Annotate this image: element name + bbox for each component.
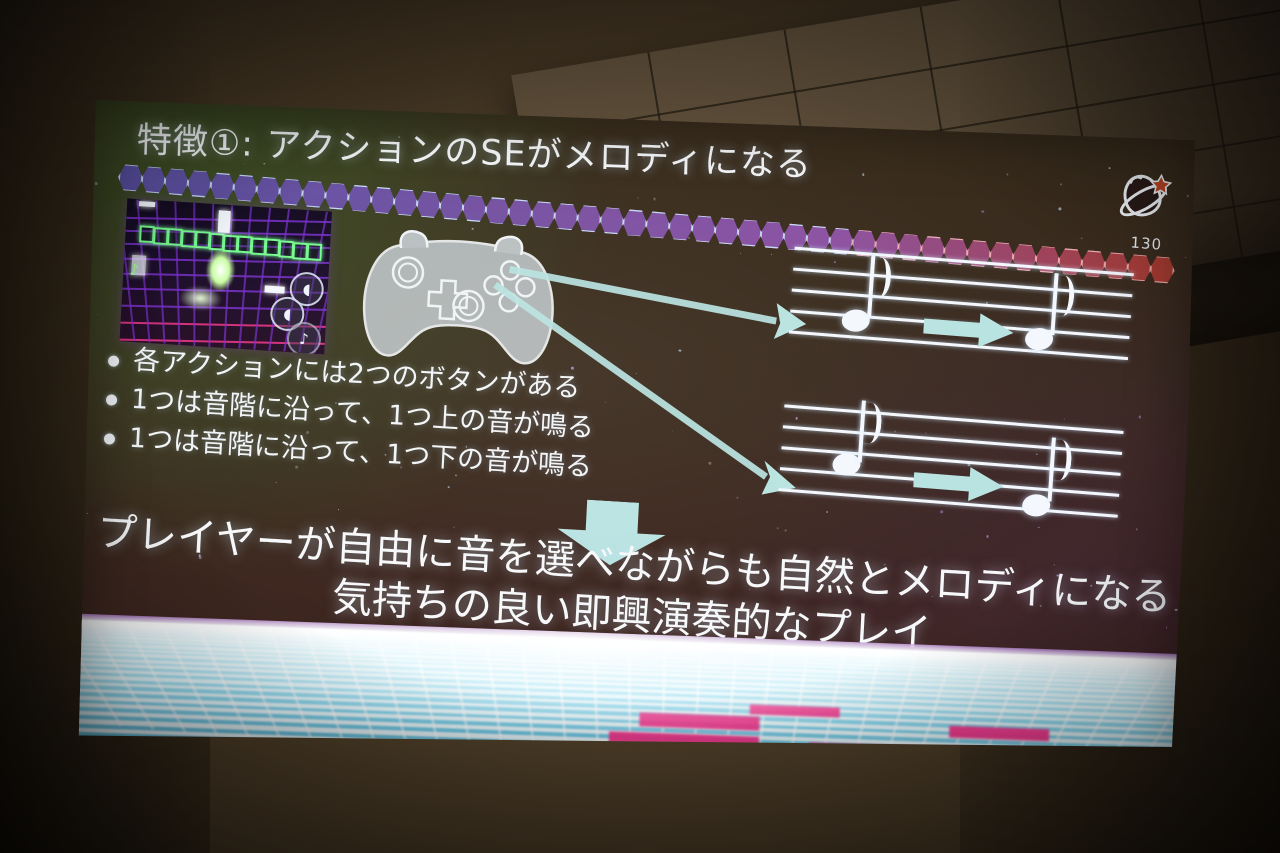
hex-segment [621, 208, 648, 238]
hex-segment [140, 165, 167, 195]
hex-segment [232, 173, 259, 203]
game-screenshot-thumbnail: ♪ ◖ ◖ ♪ [120, 198, 332, 354]
bullet-dot-icon [106, 394, 118, 406]
platform-block [264, 285, 284, 293]
hex-segment [713, 216, 740, 246]
hex-segment [484, 196, 511, 226]
hex-segment [438, 192, 465, 222]
hud-bar [139, 201, 155, 207]
staff-pitch-down [777, 404, 1124, 540]
hex-segment [346, 183, 373, 213]
bullet-list: 各アクションには2つのボタンがある 1つは音階に沿って、1つ上の音が鳴る 1つは… [103, 342, 748, 498]
hex-segment [759, 220, 786, 250]
photo-frame: 特徴①: アクションのSEがメロディになる ♪ ◖ ◖ ♪ [0, 0, 1280, 853]
page-number: 130 [1130, 233, 1163, 253]
note-block [306, 243, 322, 261]
bullet-dot-icon [108, 355, 120, 367]
hex-segment [209, 171, 236, 201]
projection-screen: 特徴①: アクションのSEがメロディになる ♪ ◖ ◖ ♪ [0, 0, 1280, 853]
note-head-low [1021, 493, 1051, 517]
hex-segment [117, 163, 144, 193]
hex-segment [392, 187, 419, 217]
hex-segment [576, 204, 603, 234]
slide-surface: 特徴①: アクションのSEがメロディになる ♪ ◖ ◖ ♪ [79, 100, 1196, 780]
note-head-low [841, 309, 871, 333]
hex-segment [507, 198, 534, 228]
hex-segment [163, 167, 190, 197]
game-controller-illustration [355, 226, 561, 377]
hex-segment [736, 218, 763, 248]
hex-segment [255, 175, 282, 205]
hex-segment [667, 212, 694, 242]
hex-segment [461, 194, 488, 224]
pitch-down-arrow [912, 463, 1004, 504]
hud-marker [218, 210, 231, 233]
hex-segment [323, 181, 350, 211]
hex-segment [598, 206, 625, 236]
hex-segment [415, 189, 442, 219]
bullet-dot-icon [104, 433, 116, 445]
hex-segment [690, 214, 717, 244]
hex-segment [300, 179, 327, 209]
hex-segment [369, 185, 396, 215]
planet-star-logo [1112, 164, 1173, 226]
hex-segment [553, 202, 580, 232]
hex-segment [278, 177, 305, 207]
hex-segment [1149, 255, 1176, 285]
hex-segment [530, 200, 557, 230]
note-head-high [1024, 327, 1054, 351]
music-note-icon: ♪ [129, 261, 140, 280]
hex-segment [186, 169, 213, 199]
hero-character-trail [176, 282, 230, 315]
hex-segment [644, 210, 671, 240]
